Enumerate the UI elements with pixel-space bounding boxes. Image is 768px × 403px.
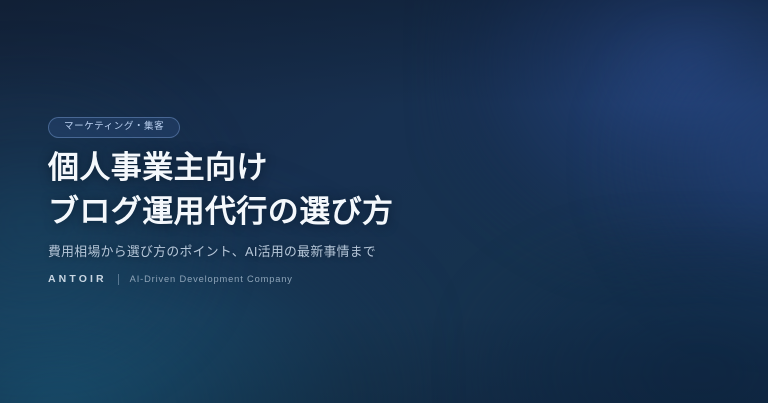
category-badge: マーケティング・集客 bbox=[48, 117, 180, 138]
brand-divider bbox=[118, 274, 119, 285]
hero-banner: マーケティング・集客 個人事業主向け ブログ運用代行の選び方 費用相場から選び方… bbox=[0, 0, 768, 403]
hero-headline-line-1: 個人事業主向け bbox=[48, 146, 393, 190]
hero-subtitle: 費用相場から選び方のポイント、AI活用の最新事情まで bbox=[48, 242, 376, 261]
hero-headline-line-2: ブログ運用代行の選び方 bbox=[48, 190, 393, 234]
hero-content: マーケティング・集客 個人事業主向け ブログ運用代行の選び方 費用相場から選び方… bbox=[48, 0, 688, 403]
brand-tagline: AI-Driven Development Company bbox=[130, 274, 293, 284]
hero-headline: 個人事業主向け ブログ運用代行の選び方 bbox=[48, 146, 393, 234]
brand-lockup: ANTOIR AI-Driven Development Company bbox=[48, 273, 293, 285]
brand-logo-text: ANTOIR bbox=[48, 273, 107, 285]
